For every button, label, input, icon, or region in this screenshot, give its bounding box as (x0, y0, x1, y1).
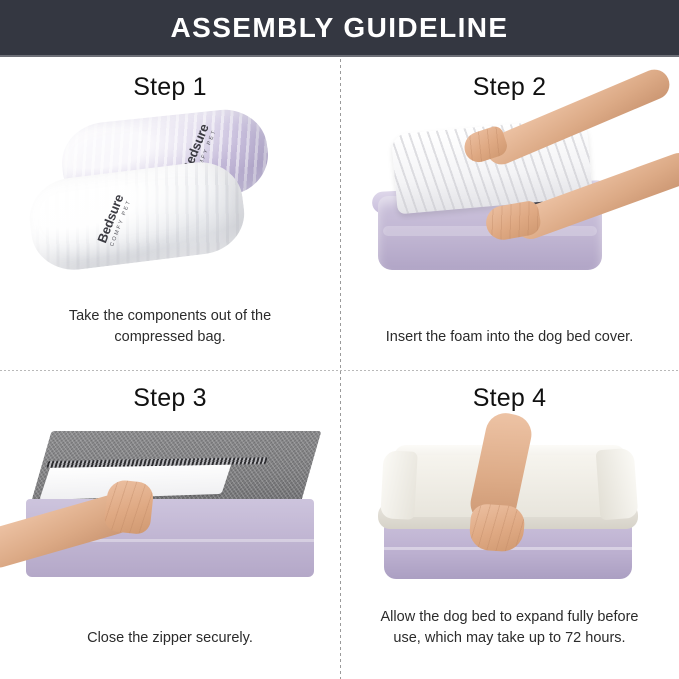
step-cell-1: Step 1 Bedsure COMFY PET Bedsure COMFY P… (0, 59, 340, 370)
page-title: ASSEMBLY GUIDELINE (171, 14, 509, 42)
horizontal-divider (0, 370, 679, 371)
brand-label-white: Bedsure COMFY PET (94, 192, 133, 247)
bed-bolster-left-icon (380, 450, 418, 520)
step-illustration-3 (20, 425, 320, 605)
step-illustration-2 (360, 108, 660, 288)
step-title-1: Step 1 (133, 75, 206, 100)
step-title-3: Step 3 (133, 386, 206, 411)
step-cell-2: Step 2 Insert the foam into the dog bed … (340, 59, 679, 370)
step-caption-4: Allow the dog bed to expand fully before… (368, 607, 651, 649)
step-caption-2: Insert the foam into the dog bed cover. (368, 327, 651, 348)
step-caption-1: Take the components out of the compresse… (28, 306, 312, 348)
step-title-4: Step 4 (473, 386, 546, 411)
step-title-2: Step 2 (473, 75, 546, 100)
step-caption-3: Close the zipper securely. (28, 628, 312, 649)
assembly-guideline-page: ASSEMBLY GUIDELINE Step 1 Bedsure COMFY … (0, 0, 679, 679)
step-illustration-1: Bedsure COMFY PET Bedsure COMFY PET (20, 108, 320, 288)
compressed-roll-white-icon: Bedsure COMFY PET (25, 157, 249, 274)
finger-lines-icon (103, 479, 154, 536)
header-bar: ASSEMBLY GUIDELINE (0, 0, 679, 57)
finger-lines-icon (468, 503, 525, 553)
step-cell-4: Step 4 Allow the dog bed to expand fully… (340, 370, 679, 679)
hand-pressing-icon (468, 503, 525, 553)
bed-bolster-right-icon (595, 448, 638, 520)
hand-gripping-zipper-icon (103, 479, 154, 536)
step-illustration-4 (360, 425, 660, 605)
step-cell-3: Step 3 Close the zipper securely. (0, 370, 340, 679)
